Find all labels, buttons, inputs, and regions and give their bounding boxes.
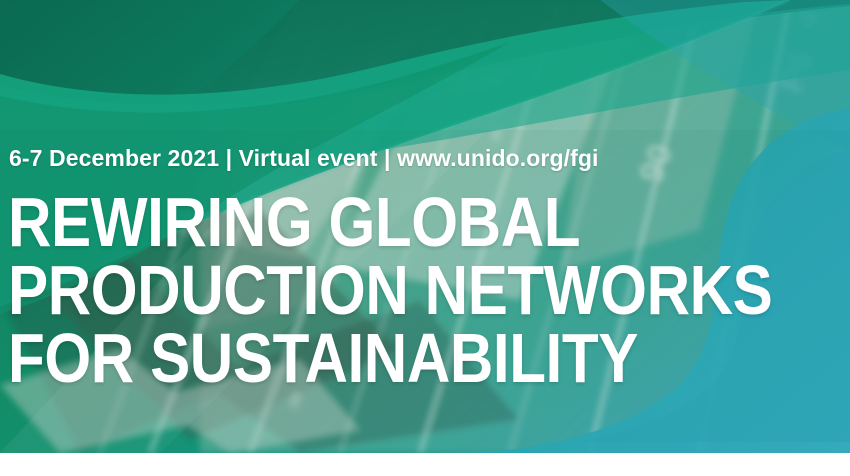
event-banner: 30 30 30 STOP 90 36 4 P6 — [0, 0, 850, 453]
banner-screen: 30 30 30 STOP 90 36 4 P6 — [0, 0, 850, 476]
banner-artwork: 30 30 30 STOP 90 36 4 P6 — [0, 0, 850, 453]
text-contrast-scrim — [0, 130, 850, 453]
page-bottom-whitespace — [0, 453, 850, 476]
